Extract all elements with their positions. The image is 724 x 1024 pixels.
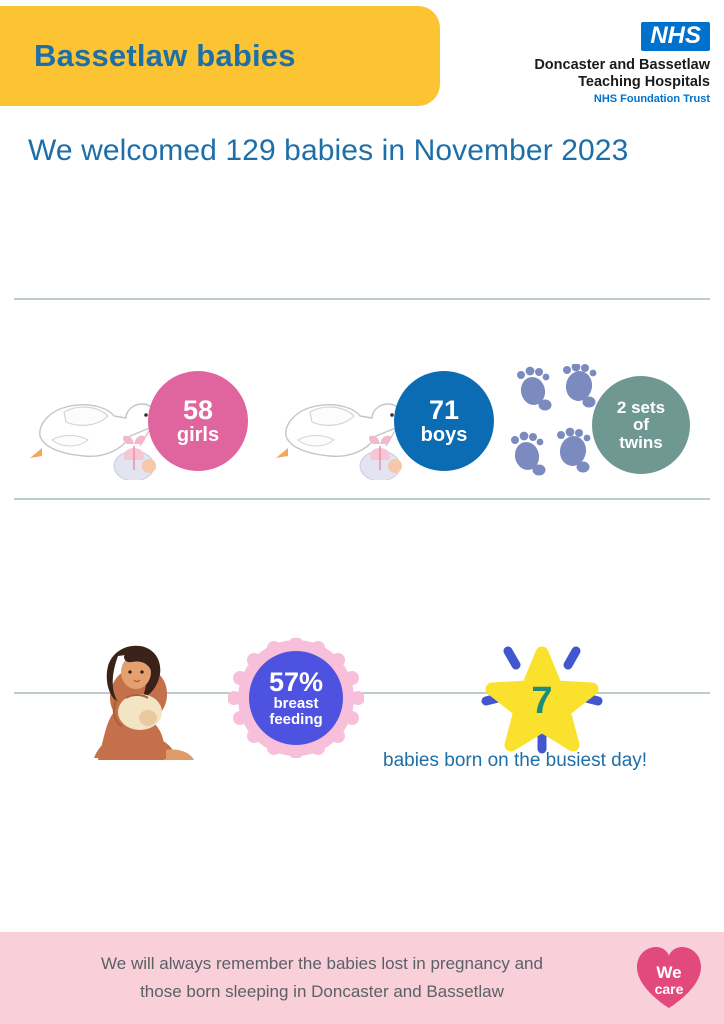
lede-headline: We welcomed 129 babies in November 2023 bbox=[28, 134, 724, 168]
trust-name-line1: Doncaster and Bassetlaw bbox=[478, 57, 710, 74]
remembrance-line2: those born sleeping in Doncaster and Bas… bbox=[30, 978, 614, 1006]
trust-name-line2: Teaching Hospitals bbox=[478, 74, 710, 91]
trust-foundation-line: NHS Foundation Trust bbox=[478, 93, 710, 105]
infographic-page: Bassetlaw babies NHS Doncaster and Basse… bbox=[0, 0, 724, 1024]
section-feeding: 57% breast feeding 7 babies born on the … bbox=[0, 300, 724, 462]
we-care-badge: We care bbox=[614, 945, 724, 1011]
page-title: Bassetlaw babies bbox=[34, 38, 296, 74]
nhs-logo: NHS bbox=[641, 22, 710, 51]
footer-band: We will always remember the babies lost … bbox=[0, 932, 724, 1024]
we-care-line1: We bbox=[656, 964, 681, 981]
we-care-line2: care bbox=[655, 982, 684, 996]
remembrance-message: We will always remember the babies lost … bbox=[0, 950, 614, 1006]
section-births: 58 girls 71 boys bbox=[0, 168, 724, 298]
remembrance-line1: We will always remember the babies lost … bbox=[30, 950, 614, 978]
we-care-text: We care bbox=[634, 945, 704, 1011]
nhs-logo-block: NHS Doncaster and Bassetlaw Teaching Hos… bbox=[478, 22, 710, 105]
section-methods: Birth methods 37% Vaginal birth 36% Emer… bbox=[0, 700, 724, 918]
header: Bassetlaw babies NHS Doncaster and Basse… bbox=[0, 0, 724, 128]
section-weight-births: Baby weight ranged from 1955g/4lbs 5oz t… bbox=[0, 500, 724, 696]
title-banner: Bassetlaw babies bbox=[0, 6, 440, 106]
